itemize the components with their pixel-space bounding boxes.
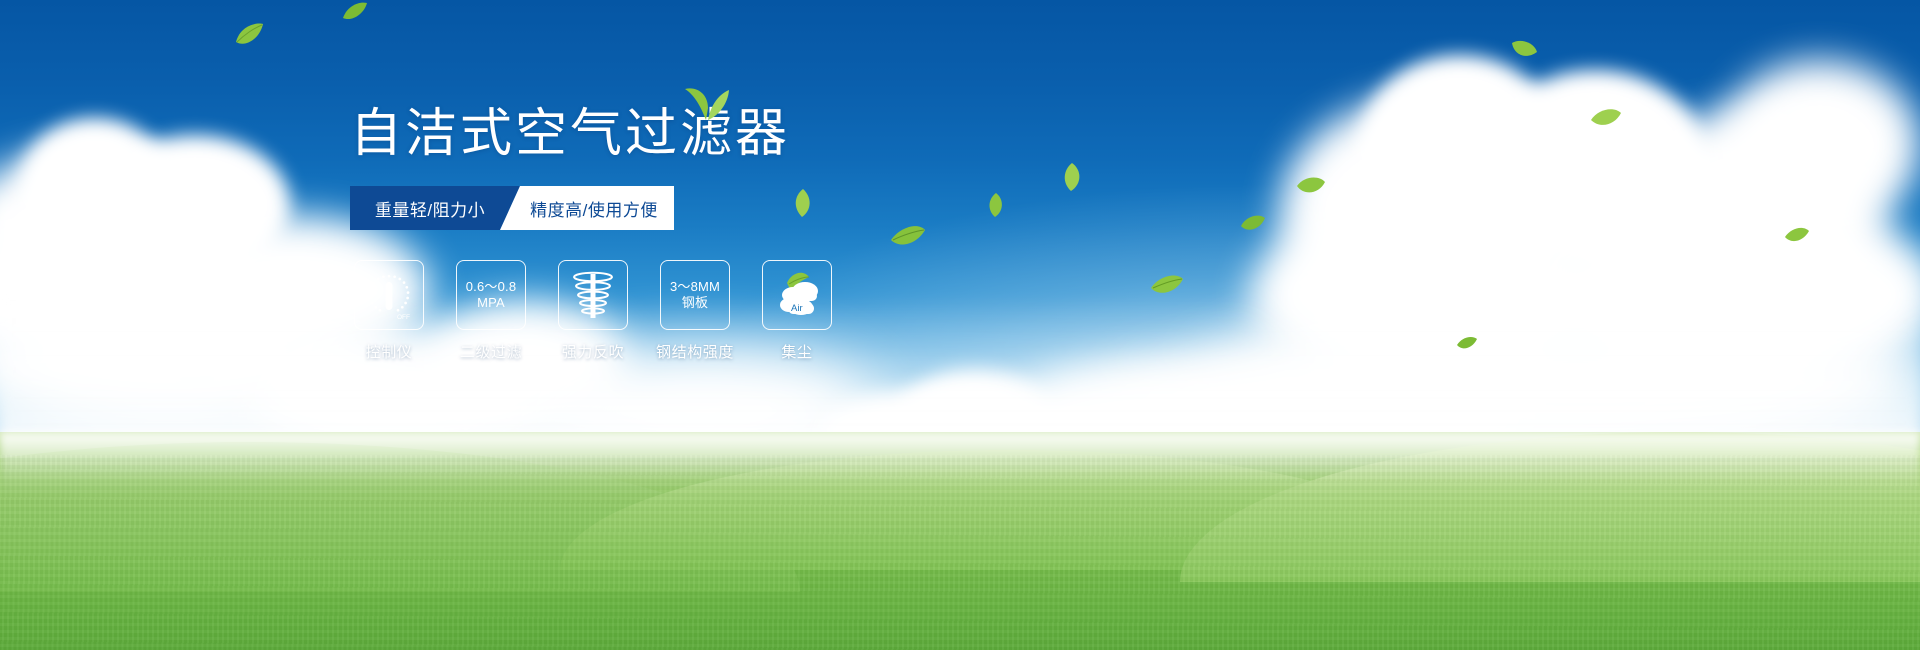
feature-caption-steel-plate: 钢结构强度 bbox=[656, 341, 734, 362]
air-cloud-icon: Air bbox=[769, 271, 825, 319]
floating-leaf-7 bbox=[1150, 274, 1184, 298]
title-leaf-decoration-icon bbox=[684, 86, 730, 120]
air-label: Air bbox=[791, 303, 803, 314]
floating-leaf-3 bbox=[1510, 38, 1538, 62]
feature-caption-pressure: 二级过滤 bbox=[452, 341, 530, 362]
feature-item-pressure: 0.6～0.8 MPA 二级过滤 bbox=[452, 260, 530, 362]
feature-caption-control-dial: 控制仪 bbox=[350, 341, 428, 362]
feature-box-pressure: 0.6～0.8 MPA bbox=[456, 260, 526, 330]
floating-leaf-5 bbox=[1296, 176, 1326, 198]
feature-item-coil: 强力反吹 bbox=[554, 260, 632, 362]
tag-lightweight-low-resistance: 重量轻/阻力小 bbox=[350, 186, 520, 230]
feature-item-air-cloud: Air 集尘 bbox=[758, 260, 836, 362]
feature-caption-coil: 强力反吹 bbox=[554, 341, 632, 362]
pressure-text-icon: 0.6～0.8 MPA bbox=[466, 279, 517, 312]
control-dial-icon: NO OFF bbox=[362, 268, 416, 322]
tag-high-precision-easy-use: 精度高/使用方便 bbox=[500, 186, 674, 230]
feature-item-control-dial: NO OFF 控制仪 bbox=[350, 260, 428, 362]
grass-shading bbox=[0, 470, 1920, 650]
floating-leaf-12 bbox=[1784, 226, 1810, 246]
floating-leaf-1 bbox=[234, 22, 264, 48]
feature-caption-air-cloud: 集尘 bbox=[758, 341, 836, 362]
steel-plate-text-icon: 3～8MM 钢板 bbox=[670, 279, 720, 312]
feature-box-coil bbox=[558, 260, 628, 330]
floating-leaf-8 bbox=[1060, 162, 1084, 192]
hero-banner: 自洁式空气过滤器 重量轻/阻力小 精度高/使用方便 bbox=[0, 0, 1920, 650]
dial-label-no: NO bbox=[365, 290, 376, 297]
feature-tag-group: 重量轻/阻力小 精度高/使用方便 bbox=[350, 186, 674, 230]
coil-filter-icon bbox=[568, 269, 618, 321]
feature-box-control-dial: NO OFF bbox=[354, 260, 424, 330]
feature-icon-row: NO OFF 控制仪 0.6～0.8 MPA 二级过滤 bbox=[350, 260, 1050, 362]
floating-leaf-4 bbox=[1590, 108, 1622, 130]
feature-item-steel-plate: 3～8MM 钢板 钢结构强度 bbox=[656, 260, 734, 362]
feature-box-air-cloud: Air bbox=[762, 260, 832, 330]
cloud-right-h bbox=[1720, 60, 1920, 230]
feature-box-steel-plate: 3～8MM 钢板 bbox=[660, 260, 730, 330]
dial-label-off: OFF bbox=[397, 314, 410, 321]
banner-content: 自洁式空气过滤器 重量轻/阻力小 精度高/使用方便 bbox=[350, 108, 1050, 362]
floating-leaf-2 bbox=[342, 2, 368, 22]
floating-leaf-6 bbox=[1240, 214, 1266, 234]
floating-leaf-13 bbox=[1456, 336, 1478, 352]
